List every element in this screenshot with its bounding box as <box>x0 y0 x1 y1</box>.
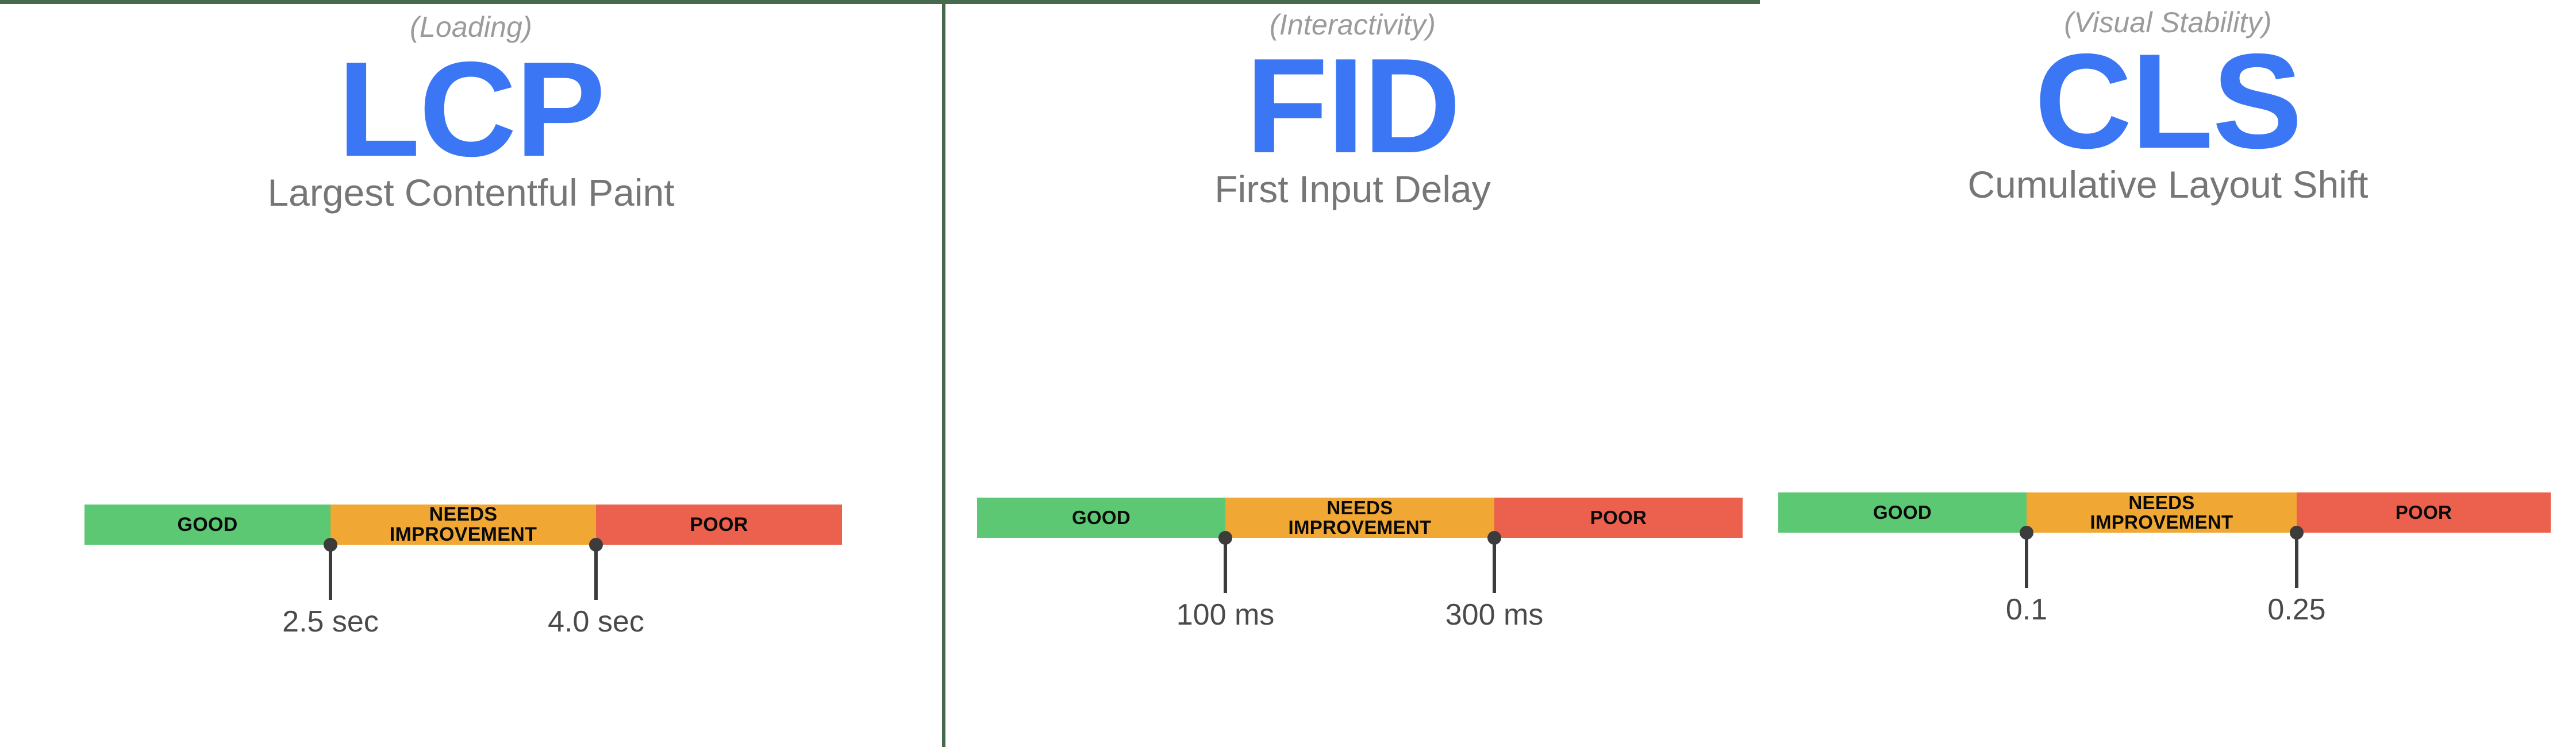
metric-acronym-fid: FID <box>945 38 1760 173</box>
threshold-value-label: 4.0 sec <box>548 607 644 637</box>
metric-fullname-cls: Cumulative Layout Shift <box>1760 165 2576 203</box>
metric-acronym-lcp: LCP <box>0 41 942 176</box>
threshold-bar-lcp: GOOD NEEDS IMPROVEMENT POOR <box>84 505 842 545</box>
metric-acronym-cls: CLS <box>1760 33 2576 168</box>
threshold-value-label: 100 ms <box>1176 600 1275 630</box>
rating-label-line1: NEEDS <box>429 503 498 525</box>
threshold-value-label: 300 ms <box>1445 600 1544 630</box>
threshold-stem <box>329 545 332 600</box>
rating-label-line1: NEEDS <box>2128 492 2194 513</box>
threshold-value-label: 0.25 <box>2267 595 2325 625</box>
rating-segment-poor: POOR <box>596 505 842 545</box>
threshold-stem <box>1493 538 1496 593</box>
rating-segment-needs-improvement: NEEDS IMPROVEMENT <box>2027 492 2297 533</box>
rating-label-line2: IMPROVEMENT <box>1289 517 1432 538</box>
threshold-bar-fid: GOOD NEEDS IMPROVEMENT POOR <box>977 498 1743 538</box>
metric-panel-fid: (Interactivity) FID First Input Delay GO… <box>945 0 1760 747</box>
rating-segment-good: GOOD <box>1778 492 2027 533</box>
rating-label-line1: NEEDS <box>1327 497 1393 518</box>
threshold-value-label: 2.5 sec <box>282 607 379 637</box>
metric-panel-lcp: (Loading) LCP Largest Contentful Paint G… <box>0 0 942 747</box>
rating-segment-good: GOOD <box>84 505 330 545</box>
metric-fullname-lcp: Largest Contentful Paint <box>0 174 942 211</box>
threshold-stem <box>2295 533 2298 588</box>
threshold-value-label: 0.1 <box>2006 595 2047 625</box>
threshold-bar-cls: GOOD NEEDS IMPROVEMENT POOR <box>1778 492 2551 533</box>
metric-fullname-fid: First Input Delay <box>945 170 1760 208</box>
rating-segment-good: GOOD <box>977 498 1225 538</box>
threshold-stem <box>1224 538 1227 593</box>
rating-segment-poor: POOR <box>2297 492 2551 533</box>
rating-segment-needs-improvement: NEEDS IMPROVEMENT <box>330 505 596 545</box>
rating-label-line2: IMPROVEMENT <box>390 523 537 545</box>
rating-segment-poor: POOR <box>1494 498 1743 538</box>
rating-label-line2: IMPROVEMENT <box>2090 511 2233 533</box>
threshold-stem <box>594 545 598 600</box>
threshold-stem <box>2025 533 2028 588</box>
rating-segment-needs-improvement: NEEDS IMPROVEMENT <box>1225 498 1494 538</box>
metric-panel-cls: (Visual Stability) CLS Cumulative Layout… <box>1760 0 2576 747</box>
core-web-vitals-figure: (Loading) LCP Largest Contentful Paint G… <box>0 0 2576 747</box>
